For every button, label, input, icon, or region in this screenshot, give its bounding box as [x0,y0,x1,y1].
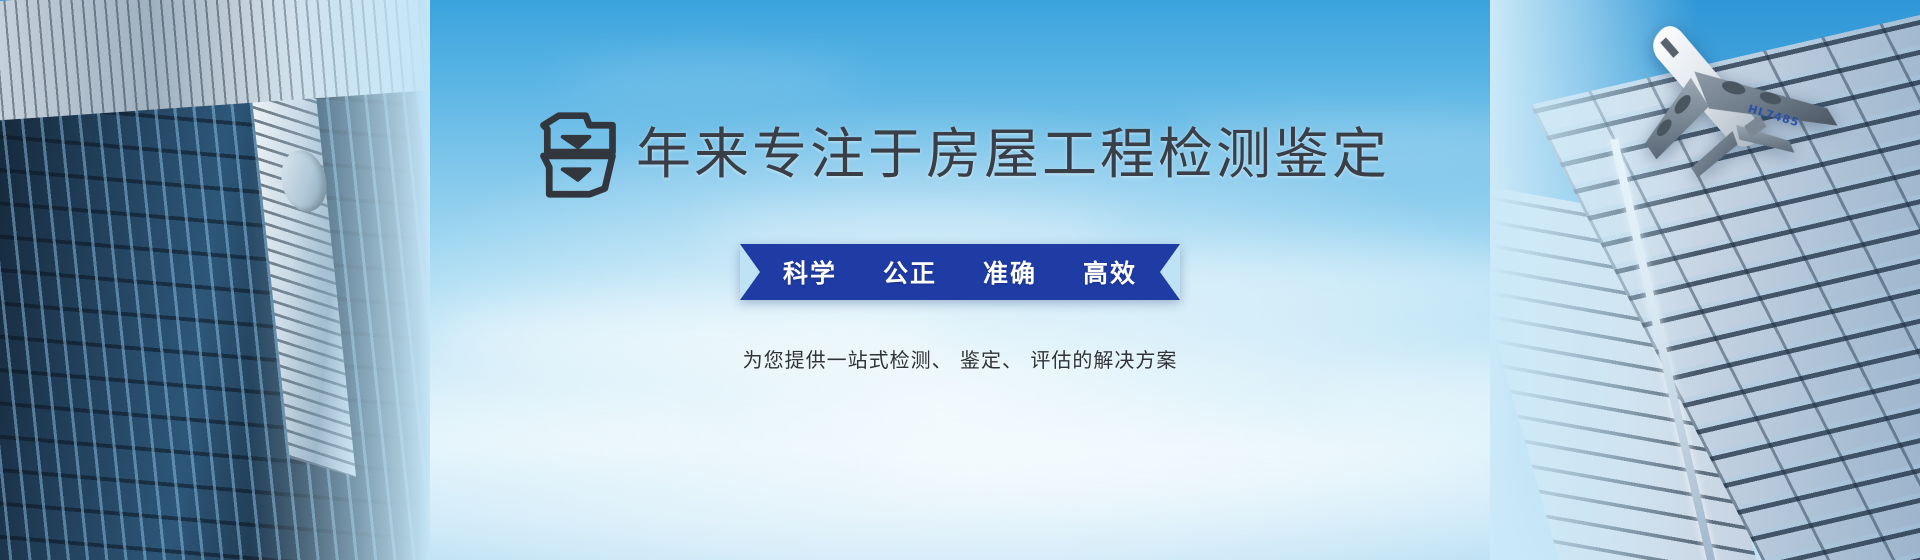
duo-character-mark-icon [530,108,626,200]
value-ribbon: 科学 公正 准确 高效 [740,244,1180,300]
ribbon-word-gongzheng: 公正 [883,254,937,290]
headline-text: 年来专注于房屋工程检测鉴定 [636,127,1390,182]
banner-subtitle: 为您提供一站式检测、 鉴定、 评估的解决方案 [743,344,1178,373]
headline-row: 年来专注于房屋工程检测鉴定 [530,108,1390,200]
value-ribbon-words: 科学 公正 准确 高效 [783,254,1137,290]
ribbon-word-zhunque: 准确 [983,254,1037,290]
banner-content: 年来专注于房屋工程检测鉴定 科学 公正 准确 高效 为您提供一站式检测、 鉴定、… [0,0,1920,560]
ribbon-word-gaoxiao: 高效 [1083,254,1137,290]
ribbon-word-kexue: 科学 [783,254,837,290]
hero-banner: HL7485 年来专注于房屋工 [0,0,1920,560]
